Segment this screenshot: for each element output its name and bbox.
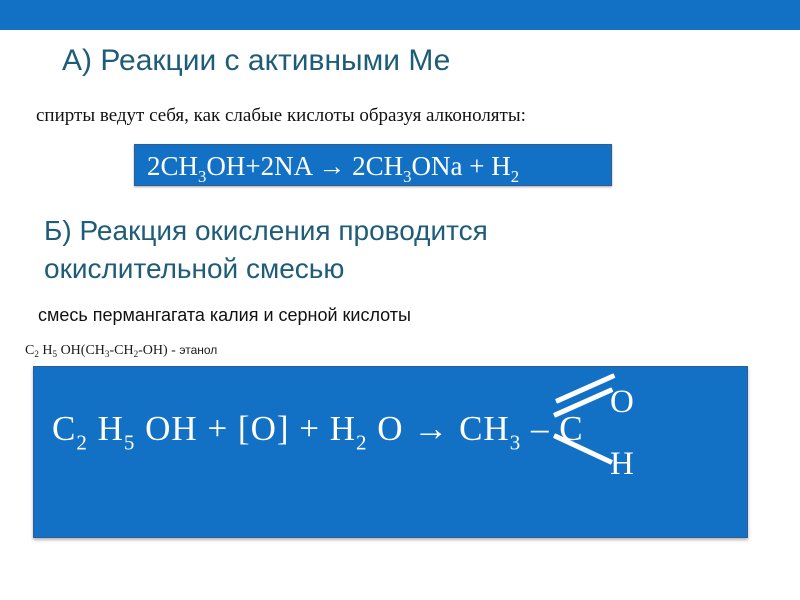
eq2-part-1: C: [52, 409, 76, 448]
single-bond-line: [553, 433, 613, 465]
top-decorative-band: [0, 0, 800, 30]
atom-label-hydrogen: H: [610, 447, 634, 481]
fs-part-4: -CH: [109, 343, 133, 358]
equation-box-alkoxide: 2CH3OH+2NA → 2CH3ONa + H2: [134, 144, 612, 186]
section-a-caption: спирты ведут себя, как слабые кислоты об…: [36, 104, 756, 128]
ethanol-formula-label: C2 H5 OH(CH3-CH2-OH) - этанол: [25, 341, 217, 360]
fs-part-2: H: [39, 343, 53, 358]
eq2-sub-3: 2: [356, 430, 368, 454]
eq2-part-2: H: [88, 409, 124, 448]
eq1-part-1: 2CH: [147, 151, 198, 181]
equation-box-oxidation: C2 H5 OH + [O] + H2 O → CH3 – C O H: [33, 366, 748, 538]
slide-canvas: А) Реакции с активными Ме спирты ведут с…: [0, 0, 800, 600]
eq2-sub-4: 3: [510, 430, 522, 454]
atom-label-oxygen: O: [610, 385, 634, 419]
eq1-part-2: OH+2NA → 2CH: [206, 151, 403, 181]
eq1-sub-3: 2: [511, 167, 519, 186]
eq2-sub-2: 5: [124, 430, 136, 454]
eq1-part-3: ONa + H: [412, 151, 511, 181]
eq2-sub-1: 2: [76, 430, 88, 454]
eq2-part-3: OH + [O] + H: [135, 409, 356, 448]
ethanol-annotation: этанол: [179, 343, 217, 357]
fs-part-1: C: [25, 343, 34, 358]
section-b-heading: Б) Реакция окисления проводится окислите…: [44, 212, 744, 288]
equation-alkoxide-text: 2CH3OH+2NA → 2CH3ONa + H2: [147, 146, 519, 186]
equation-oxidation-text: C2 H5 OH + [O] + H2 O → CH3 – C: [52, 405, 584, 453]
section-a-heading: А) Реакции с активными Ме: [62, 43, 742, 79]
fs-part-3: OH(CH: [57, 343, 105, 358]
section-b-heading-line-2: окислительной смесью: [44, 250, 744, 288]
section-b-caption: смесь пермангагата калия и серной кислот…: [38, 303, 738, 327]
section-b-heading-line-1: Б) Реакция окисления проводится: [44, 212, 744, 250]
eq2-part-4: O → CH: [368, 409, 510, 448]
eq1-sub-2: 3: [403, 167, 411, 186]
fs-part-5: -OH) -: [138, 343, 179, 358]
